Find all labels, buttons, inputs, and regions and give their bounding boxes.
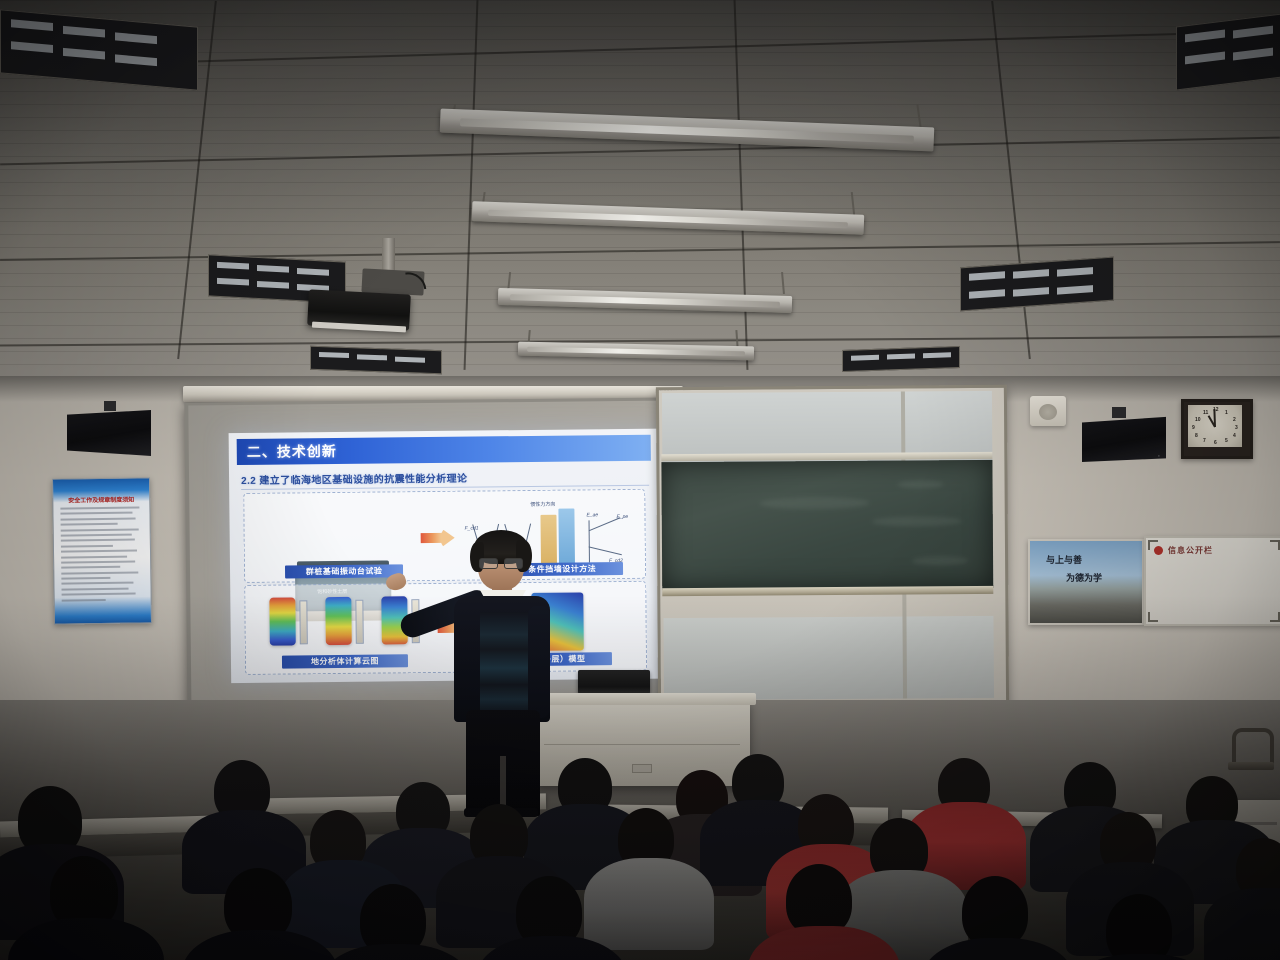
board-corner-bracket: [1148, 540, 1158, 550]
board-corner-bracket: [1270, 612, 1280, 622]
clock-numeral: 2: [1233, 417, 1236, 423]
wall-speaker-left: [67, 410, 151, 456]
board-corner-bracket: [1148, 612, 1158, 622]
contour-plot-2: [325, 597, 352, 645]
wall-speaker-right: ●: [1082, 416, 1166, 462]
poster-body-text: [60, 506, 143, 603]
fluorescent-tube: [527, 347, 744, 356]
ceiling-panel-light[interactable]: [1176, 13, 1280, 90]
poster-title: 安全工作及规章制度须知: [59, 494, 143, 504]
information-board-title: 信息公开栏: [1168, 545, 1213, 556]
speaker-brand-mark: ●: [1158, 453, 1160, 458]
speaker-bracket-left: [104, 401, 116, 411]
clock-numeral: 8: [1195, 433, 1198, 439]
presenter-glasses: [479, 558, 523, 567]
ceiling-panel-light[interactable]: [842, 346, 960, 372]
wall-clock: 12 1 2 3 4 5 6 7 8 9 10 11: [1181, 399, 1253, 459]
clock-numeral: 1: [1225, 410, 1228, 416]
panel-bottom-left-caption: 地分析体计算云图: [282, 654, 408, 668]
slide-title-bar: 二、技术创新: [237, 435, 651, 465]
presenter-resting-arm: [528, 606, 550, 718]
chalk-tray: [662, 586, 993, 596]
clock-numeral: 6: [1214, 440, 1217, 446]
clock-numeral: 5: [1225, 438, 1228, 444]
graph-annotation: 惯性力方向: [530, 501, 555, 508]
presenter-sweater: [480, 612, 528, 716]
clock-numeral: 10: [1195, 417, 1201, 423]
symbol-label: E_pe: [616, 514, 628, 520]
clock-numeral: 3: [1235, 425, 1238, 431]
chalk-smudge: [898, 480, 944, 488]
laptop-on-podium[interactable]: [578, 670, 650, 694]
slide-subtitle: 2.2 建立了临海地区基础设施的抗震性能分析理论: [241, 474, 467, 487]
landscape-picture: 与上与善 为德为学: [1028, 539, 1144, 625]
clock-face: 12 1 2 3 4 5 6 7 8 9 10 11: [1188, 405, 1242, 447]
slide-title: 二、技术创新: [237, 441, 337, 462]
whiteboard-panel-lower[interactable]: [663, 616, 994, 700]
clock-numeral: 9: [1192, 425, 1195, 431]
board-corner-bracket: [1270, 540, 1280, 550]
chalk-smudge: [760, 497, 870, 510]
wall-notice-poster: 安全工作及规章制度须知: [52, 477, 152, 624]
calligraphy-line-2: 为德为学: [1066, 571, 1102, 584]
diagram-line: [589, 520, 590, 562]
ceiling-panel-light[interactable]: [310, 346, 442, 375]
green-chalkboard[interactable]: [661, 460, 993, 590]
contour-colorbar-2: [355, 600, 363, 644]
speaker-bracket-right: [1112, 407, 1126, 418]
panel-top-left-caption: 群桩基础振动台试验: [285, 564, 403, 578]
diagram-line: [589, 546, 622, 555]
ceiling: [0, 0, 1280, 400]
slide-subtitle-row: 2.2 建立了临海地区基础设施的抗震性能分析理论: [241, 467, 649, 490]
chalk-smudge: [912, 556, 968, 565]
blackboard-assembly: [656, 385, 1009, 713]
contour-plot-1: [269, 597, 296, 645]
contour-colorbar-1: [299, 600, 307, 644]
alarm-grill: [1039, 404, 1057, 420]
audience-head: [1106, 894, 1172, 960]
calligraphy-line-1: 与上与善: [1046, 553, 1082, 566]
fluorescent-tube: [510, 295, 781, 308]
information-board[interactable]: 信息公开栏: [1144, 536, 1280, 626]
audience-shoulders-gray: [584, 858, 714, 950]
wall-alarm-sensor: [1030, 396, 1066, 426]
clock-numeral: 7: [1203, 438, 1206, 444]
lecture-hall-photo: Rainbow 二、技术创新 2.2 建立了临海地区基础设施的抗震性能分析理论 …: [0, 0, 1280, 960]
chalk-smudge: [872, 516, 962, 527]
symbol-label: E_ae: [586, 512, 598, 518]
clock-numeral: 4: [1233, 433, 1236, 439]
audience: [0, 748, 1280, 960]
